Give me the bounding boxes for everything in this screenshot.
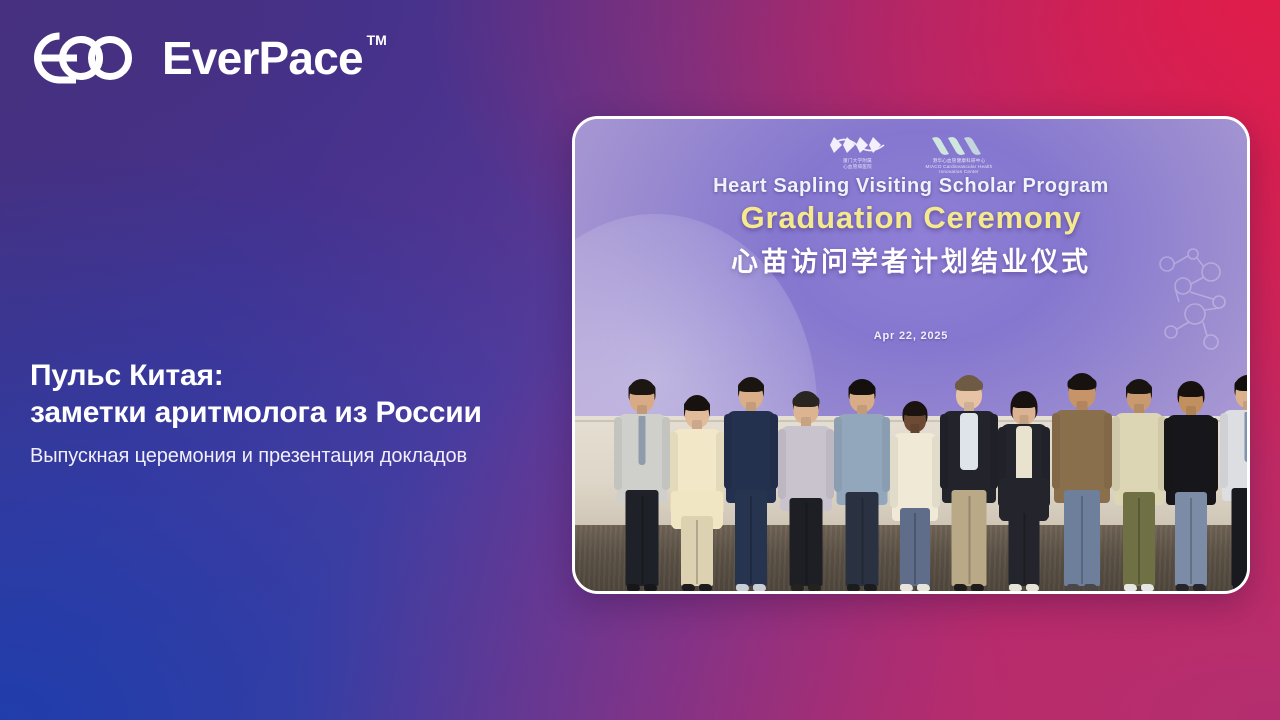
slide-root: EverPace TM Пульс Китая: заметки аритмол… — [0, 0, 1280, 720]
person-arm-left — [890, 436, 898, 508]
banner-headline-cn: 心苗访问学者计划结业仪式 — [593, 240, 1229, 279]
person-shoe-right — [1141, 584, 1154, 591]
person-shoe-right — [1026, 584, 1039, 591]
graduation-photo-card: 厦门大学附属 心血管病医院 港华心血管健康科研中心 MIACO Cardiova… — [572, 116, 1250, 594]
person-legs — [1064, 490, 1100, 586]
banner-logo-0-caption: 厦门大学附属 心血管病医院 — [843, 158, 872, 169]
photo-inner: 厦门大学附属 心血管病医院 港华心血管健康科研中心 MIACO Cardiova… — [575, 119, 1247, 591]
brand-name: EverPace TM — [162, 35, 363, 81]
person-shoe-left — [736, 584, 749, 591]
person-hair-cap — [1126, 382, 1152, 394]
person-arm-left — [1052, 413, 1060, 489]
trademark-mark: TM — [367, 33, 387, 47]
person-shoe-left — [627, 584, 640, 591]
person-hair-cap — [738, 380, 764, 392]
banner-logo-0: 厦门大学附属 心血管病医院 — [830, 134, 886, 169]
slide-copy: Пульс Китая: заметки аритмолога из Росси… — [30, 358, 570, 469]
person-figure — [1113, 379, 1165, 591]
person-legs — [735, 490, 767, 586]
person-figure — [1165, 381, 1217, 591]
person-shoe-right — [971, 584, 984, 591]
banner-logo-1: 港华心血管健康科研中心 MIACO Cardiovascular Health … — [926, 134, 993, 175]
banner-logo-1-caption: 港华心血管健康科研中心 MIACO Cardiovascular Health … — [926, 158, 993, 175]
person-hair-cap — [1012, 396, 1037, 408]
person-shoe-left — [1124, 584, 1137, 591]
person-shoe-left — [1176, 584, 1189, 591]
person-legs — [952, 490, 987, 586]
person-arm-left — [614, 417, 622, 490]
person-shoe-left — [954, 584, 967, 591]
person-arm-left — [1112, 416, 1120, 491]
person-arm-left — [724, 414, 732, 489]
person-legs — [900, 508, 930, 586]
banner-program-line: Heart Sapling Visiting Scholar Program — [593, 175, 1229, 198]
person-shoe-right — [1084, 584, 1097, 591]
person-shoe-left — [847, 584, 860, 591]
person-figure — [835, 379, 889, 591]
person-hair-cap — [1068, 376, 1097, 390]
person-shoe-right — [917, 584, 930, 591]
banner-text-block: Heart Sapling Visiting Scholar Program G… — [575, 175, 1247, 279]
person-arm-right — [770, 414, 778, 489]
group-people — [575, 336, 1247, 591]
person-arm-right — [826, 429, 834, 499]
person-figure — [891, 401, 939, 591]
person-inner-shirt — [960, 413, 978, 470]
person-figure — [725, 377, 777, 591]
person-legs — [626, 490, 659, 586]
person-shoe-right — [753, 584, 766, 591]
person-shoe-left — [900, 584, 913, 591]
banner-headline: Graduation Ceremony — [593, 200, 1229, 236]
person-arm-right — [1210, 418, 1218, 492]
person-legs — [1009, 508, 1040, 586]
person-hair-cap — [1178, 385, 1204, 397]
person-arm-right — [990, 414, 998, 489]
person-legs — [681, 516, 713, 586]
page-title: Пульс Китая: заметки аритмолога из Росси… — [30, 358, 570, 431]
person-shoe-right — [864, 584, 877, 591]
banner-logos: 厦门大学附属 心血管病医院 港华心血管健康科研中心 MIACO Cardiova… — [575, 134, 1247, 175]
person-inner-shirt — [1016, 426, 1032, 486]
person-hair-cap — [903, 405, 927, 416]
person-shoe-right — [644, 584, 657, 591]
everpace-monogram-icon — [30, 26, 148, 90]
person-arm-left — [1220, 413, 1228, 488]
person-arm-right — [662, 417, 670, 490]
person-shoe-left — [1067, 584, 1080, 591]
person-arm-left — [940, 414, 948, 489]
person-shoe-left — [682, 584, 695, 591]
page-subtitle: Выпускная церемония и презентация доклад… — [30, 443, 570, 469]
person-figure — [615, 379, 669, 591]
person-shoe-left — [1009, 584, 1022, 591]
person-legs — [1232, 488, 1248, 586]
person-legs — [846, 492, 879, 586]
wave-crest-icon — [928, 134, 990, 156]
person-legs — [1123, 492, 1155, 586]
person-figure — [1221, 375, 1247, 591]
person-figure — [671, 395, 723, 591]
person-hair-cap — [1235, 378, 1248, 391]
brand-logo[interactable]: EverPace TM — [30, 26, 363, 90]
person-shoe-right — [808, 584, 821, 591]
person-tie — [1245, 412, 1248, 462]
person-hair-cap — [955, 378, 983, 391]
person-arm-left — [834, 417, 842, 492]
person-figure — [941, 375, 997, 591]
person-arm-left — [1164, 418, 1172, 492]
person-hair-cap — [793, 394, 820, 407]
person-shoe-left — [791, 584, 804, 591]
brand-name-text: EverPace — [162, 32, 363, 84]
person-arm-right — [932, 436, 940, 508]
person-arm-left — [778, 429, 786, 499]
person-legs — [1175, 492, 1207, 586]
person-figure — [779, 391, 833, 591]
person-legs — [790, 498, 823, 586]
person-shoe-right — [699, 584, 712, 591]
person-hair-cap — [684, 399, 710, 411]
person-tie — [639, 416, 646, 465]
person-shoe-left — [1233, 584, 1246, 591]
hospital-crest-icon — [830, 134, 886, 156]
person-hair-cap — [629, 382, 656, 395]
person-hair-cap — [849, 382, 876, 395]
person-arm-right — [882, 417, 890, 492]
person-arm-right — [1104, 413, 1112, 489]
person-figure — [999, 391, 1049, 591]
person-shoe-right — [1193, 584, 1206, 591]
person-figure — [1053, 373, 1111, 591]
